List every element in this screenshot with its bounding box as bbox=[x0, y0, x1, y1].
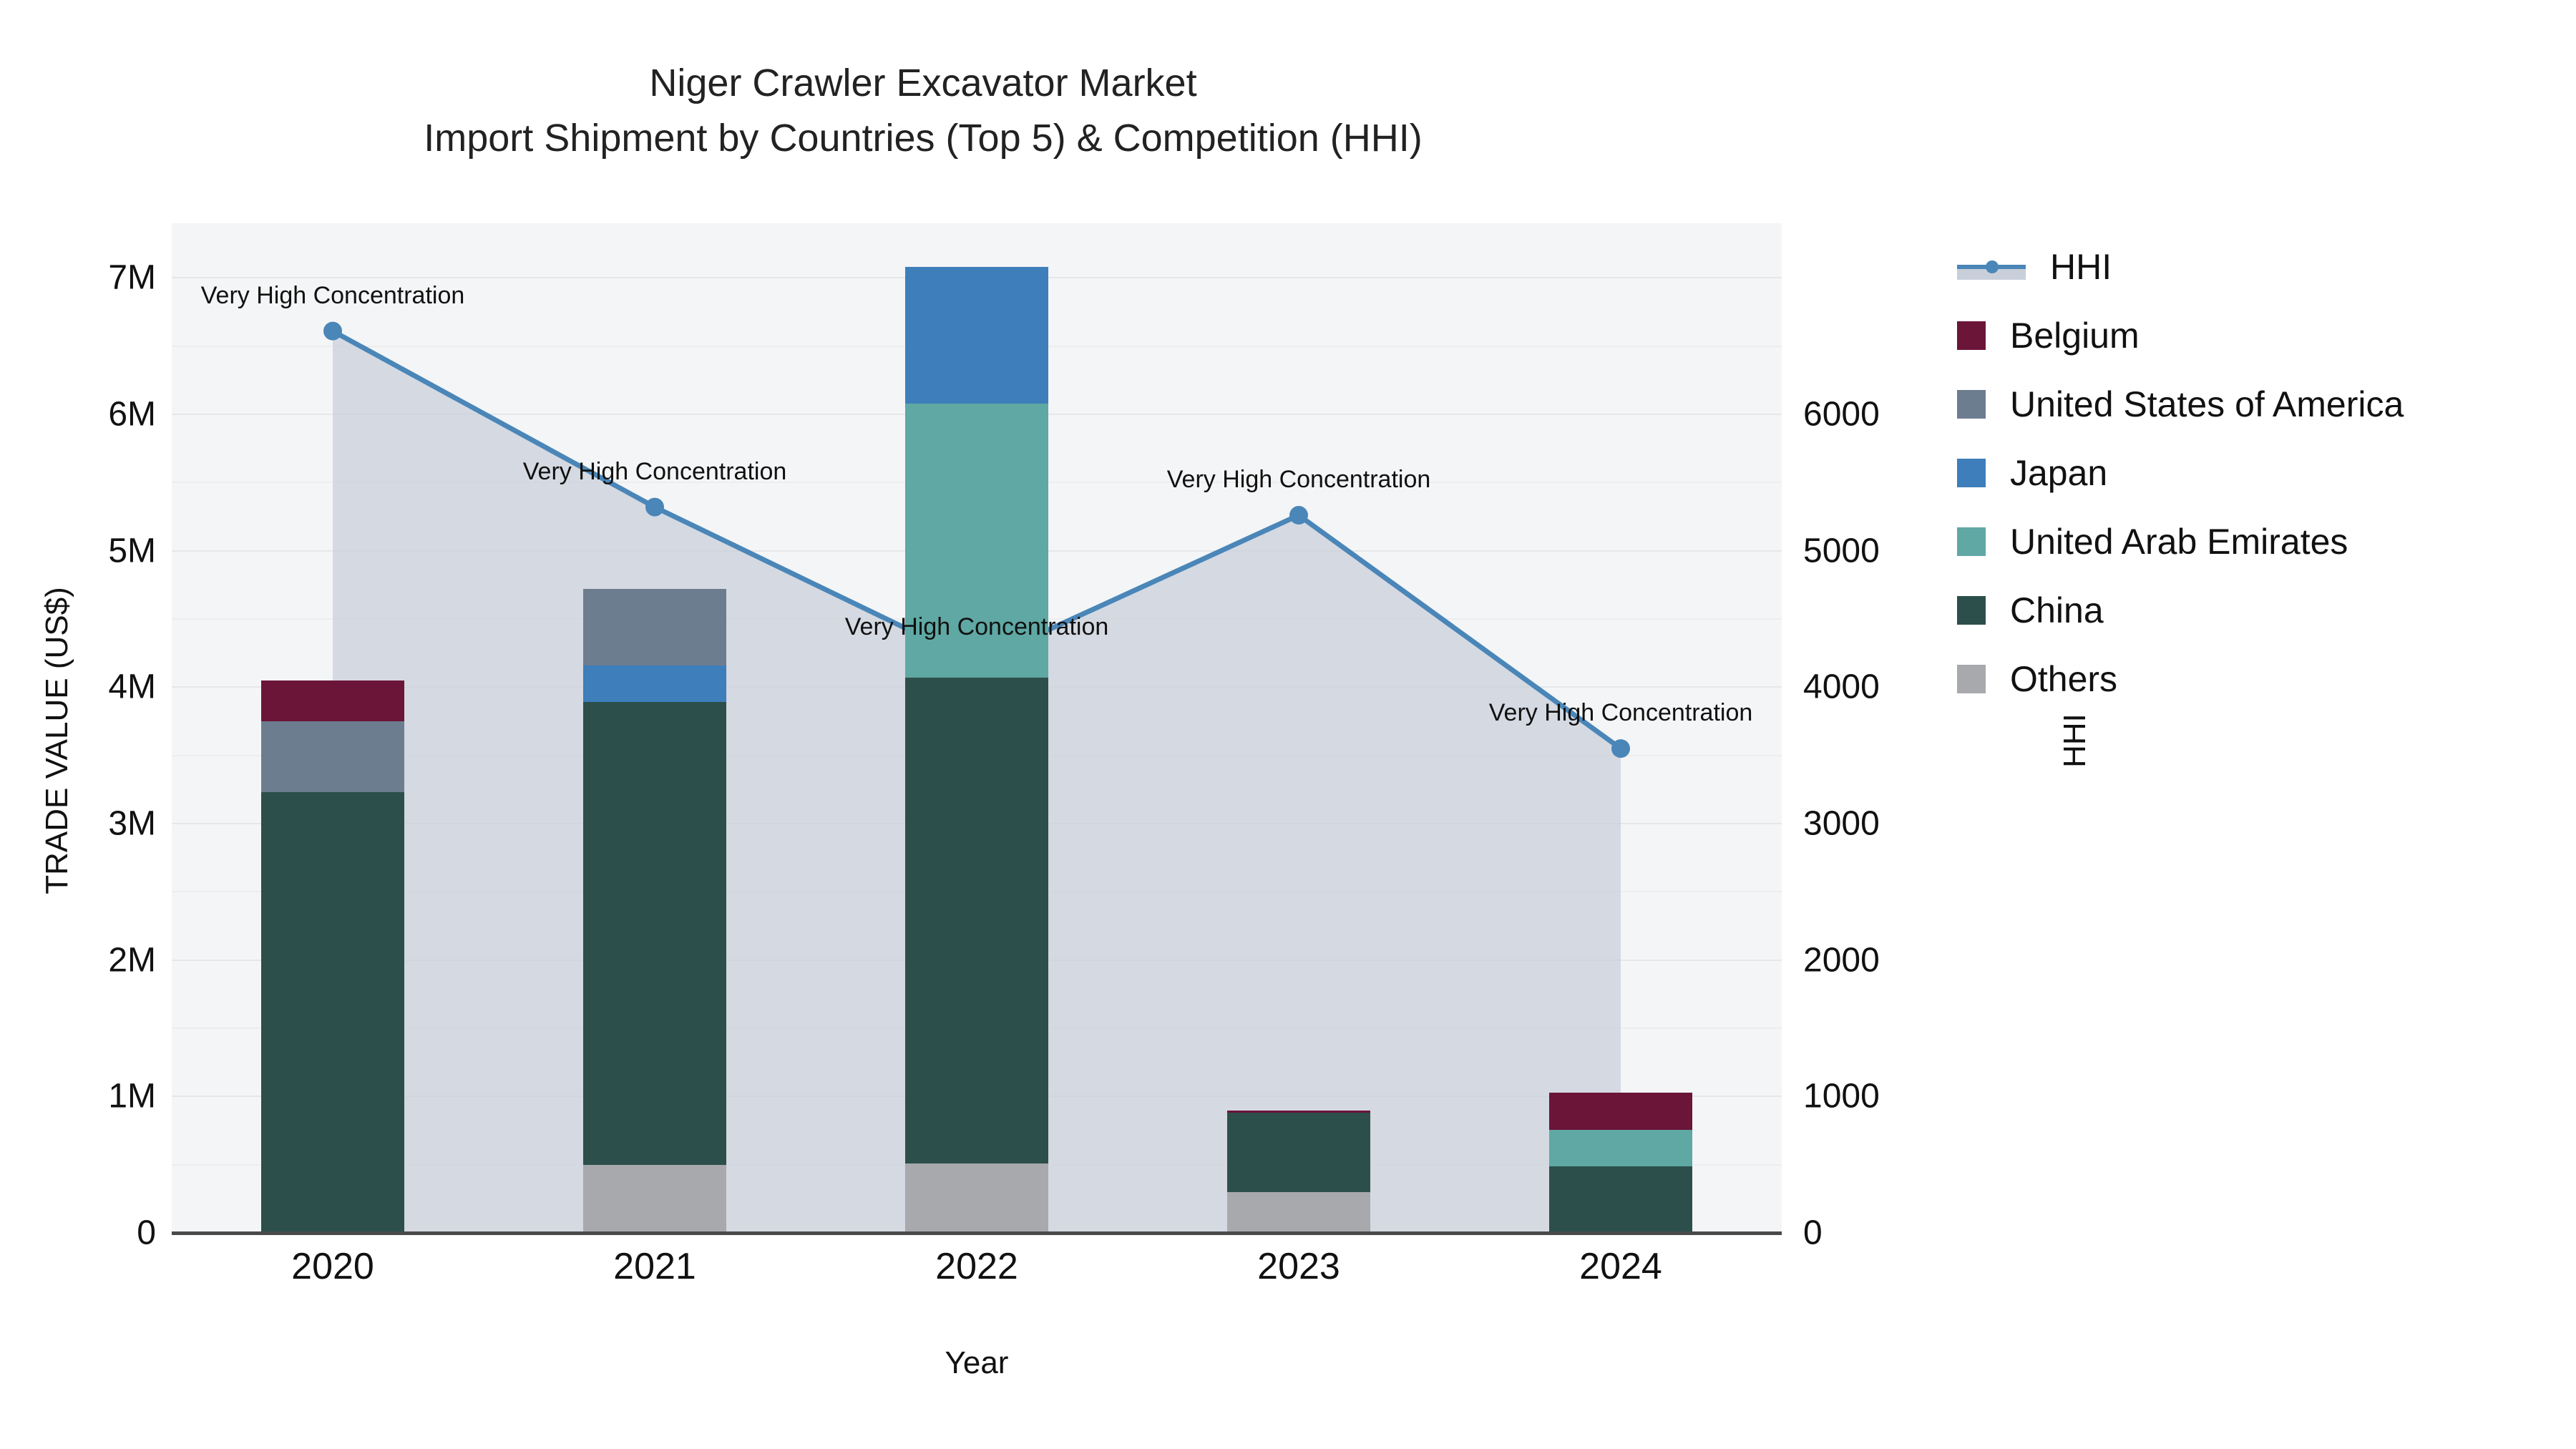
legend-color-swatch bbox=[1957, 390, 1986, 419]
y-axis-right-tick-label: 1000 bbox=[1803, 1077, 2032, 1116]
y-axis-right-tick-label: 0 bbox=[1803, 1214, 2032, 1253]
bar-segment[interactable] bbox=[1227, 1111, 1370, 1113]
legend-color-swatch bbox=[1957, 459, 1986, 487]
y-axis-left-tick-label: 6M bbox=[0, 394, 156, 434]
bar-segment[interactable] bbox=[1549, 1093, 1692, 1130]
bar-segment[interactable] bbox=[1549, 1166, 1692, 1233]
chart-title-line-1: Niger Crawler Excavator Market bbox=[0, 56, 1846, 111]
legend-item-label: United States of America bbox=[2010, 384, 2404, 425]
legend-item[interactable]: China bbox=[1957, 576, 2558, 645]
bar-segment[interactable] bbox=[583, 702, 726, 1164]
x-axis-line bbox=[172, 1231, 1782, 1235]
hhi-data-point[interactable] bbox=[1611, 739, 1630, 758]
hhi-data-point[interactable] bbox=[645, 498, 664, 517]
chart-title-line-2: Import Shipment by Countries (Top 5) & C… bbox=[0, 111, 1846, 166]
legend-marker-dot bbox=[1986, 260, 1999, 273]
legend-item[interactable]: United States of America bbox=[1957, 370, 2558, 439]
bar-segment[interactable] bbox=[583, 665, 726, 702]
legend-item[interactable]: United Arab Emirates bbox=[1957, 507, 2558, 576]
plot-area: Very High ConcentrationVery High Concent… bbox=[172, 223, 1782, 1233]
hhi-point-annotation: Very High Concentration bbox=[523, 458, 787, 486]
hhi-point-annotation: Very High Concentration bbox=[845, 613, 1109, 641]
legend-item[interactable]: Others bbox=[1957, 645, 2558, 713]
hhi-data-point[interactable] bbox=[1289, 506, 1308, 525]
legend-item-label: United Arab Emirates bbox=[2010, 521, 2348, 562]
bar-segment[interactable] bbox=[261, 792, 404, 1233]
hhi-point-annotation: Very High Concentration bbox=[201, 282, 465, 310]
bar-segment[interactable] bbox=[583, 589, 726, 665]
y-axis-left-tick-label: 0 bbox=[0, 1214, 156, 1253]
y-axis-left-tick-label: 1M bbox=[0, 1077, 156, 1116]
bar-segment[interactable] bbox=[1227, 1113, 1370, 1192]
hhi-data-point[interactable] bbox=[323, 322, 342, 341]
legend-item-label: HHI bbox=[2050, 246, 2112, 288]
x-axis-tick-label[interactable]: 2022 bbox=[869, 1245, 1084, 1288]
bar-segment[interactable] bbox=[1549, 1130, 1692, 1166]
bar-segment[interactable] bbox=[905, 1163, 1048, 1233]
bar-stack[interactable] bbox=[261, 680, 404, 1233]
hhi-point-annotation: Very High Concentration bbox=[1489, 699, 1753, 727]
bar-stack[interactable] bbox=[1549, 1093, 1692, 1233]
chart-title: Niger Crawler Excavator Market Import Sh… bbox=[0, 56, 1846, 165]
x-axis-tick-label[interactable]: 2020 bbox=[225, 1245, 440, 1288]
y-axis-left-title: TRADE VALUE (US$) bbox=[39, 240, 75, 1241]
bar-stack[interactable] bbox=[583, 589, 726, 1233]
y-axis-left-tick-label: 4M bbox=[0, 668, 156, 707]
legend-item[interactable]: Belgium bbox=[1957, 301, 2558, 370]
legend-color-swatch bbox=[1957, 321, 1986, 350]
x-axis-tick-label[interactable]: 2024 bbox=[1513, 1245, 1728, 1288]
legend-item-label: China bbox=[2010, 590, 2104, 631]
hhi-point-annotation: Very High Concentration bbox=[1167, 466, 1431, 494]
bar-stack[interactable] bbox=[1227, 1111, 1370, 1233]
legend-item-label: Japan bbox=[2010, 452, 2107, 494]
legend-color-swatch bbox=[1957, 596, 1986, 625]
legend-item-label: Belgium bbox=[2010, 315, 2140, 356]
y-axis-right-tick-label: 2000 bbox=[1803, 940, 2032, 980]
legend-item[interactable]: Japan bbox=[1957, 439, 2558, 507]
bar-segment[interactable] bbox=[905, 267, 1048, 404]
bar-segment[interactable] bbox=[583, 1165, 726, 1233]
bar-segment[interactable] bbox=[905, 678, 1048, 1163]
legend-color-swatch bbox=[1957, 527, 1986, 556]
bar-segment[interactable] bbox=[261, 680, 404, 721]
y-axis-right-tick-label: 3000 bbox=[1803, 804, 2032, 843]
legend-item[interactable]: HHI bbox=[1957, 233, 2558, 301]
bar-stack[interactable] bbox=[905, 267, 1048, 1233]
legend-item-label: Others bbox=[2010, 658, 2117, 700]
legend-color-swatch bbox=[1957, 665, 1986, 693]
x-axis-tick-label[interactable]: 2021 bbox=[547, 1245, 762, 1288]
y-axis-left-tick-label: 7M bbox=[0, 258, 156, 298]
x-axis-tick-label[interactable]: 2023 bbox=[1191, 1245, 1406, 1288]
chart-legend: HHIBelgiumUnited States of AmericaJapanU… bbox=[1957, 233, 2558, 713]
chart-figure: Niger Crawler Excavator Market Import Sh… bbox=[0, 0, 2576, 1449]
x-axis-title: Year bbox=[0, 1345, 1953, 1381]
bar-segment[interactable] bbox=[261, 721, 404, 792]
y-axis-left-tick-label: 5M bbox=[0, 531, 156, 570]
y-axis-left-tick-label: 2M bbox=[0, 940, 156, 980]
legend-line-swatch bbox=[1957, 253, 2026, 281]
y-axis-left-tick-label: 3M bbox=[0, 804, 156, 843]
bar-segment[interactable] bbox=[1227, 1192, 1370, 1233]
